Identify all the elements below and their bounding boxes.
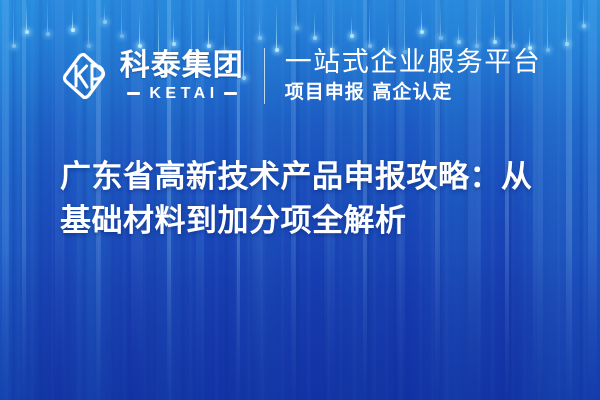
brand-rule-left (127, 92, 140, 95)
brand-lockup[interactable]: 科泰集团 KETAI (59, 51, 244, 102)
meteor-particle (566, 10, 567, 44)
meteor-particle (121, 0, 122, 36)
meteor-particle (259, 14, 260, 38)
meteor-head (25, 30, 29, 34)
brand-text: 科泰集团 KETAI (120, 51, 244, 102)
meteor-head (350, 34, 354, 38)
meteor-head (582, 24, 586, 28)
meteor-head (46, 32, 50, 36)
tagline-main: 一站式企业服务平台 (285, 49, 542, 77)
brand-name-en-row: KETAI (127, 86, 237, 102)
meteor-particle (440, 0, 441, 38)
meteor-head (71, 28, 75, 32)
brand-name-en: KETAI (145, 86, 219, 102)
ketai-diamond-monogram-logo-icon (59, 51, 109, 101)
headline-line-1: 广东省高新技术产品申报攻略：从 (60, 155, 550, 199)
meteor-particle (47, 0, 48, 34)
promo-banner: 科泰集团 KETAI 一站式企业服务平台 项目申报 高企认定 广东省高新技术产品… (0, 0, 600, 400)
meteor-particle (494, 12, 495, 42)
brand-rule-right (224, 92, 237, 95)
meteor-particle (421, 8, 422, 32)
meteor-particle (296, 0, 297, 28)
meteor-head (295, 26, 299, 30)
header-divider (264, 48, 265, 104)
brand-name-cn: 科泰集团 (120, 51, 244, 81)
meteor-head (420, 30, 424, 34)
meteor-head (120, 34, 124, 38)
headline-block: 广东省高新技术产品申报攻略：从 基础材料到加分项全解析 (60, 155, 550, 243)
meteor-head (103, 20, 107, 24)
headline-line-2: 基础材料到加分项全解析 (60, 199, 550, 243)
meteor-particle (72, 8, 73, 30)
meteor-particle (104, 4, 105, 22)
meteor-particle (314, 10, 315, 38)
meteor-particle (351, 16, 352, 36)
banner-header: 科泰集团 KETAI 一站式企业服务平台 项目申报 高企认定 (0, 40, 600, 112)
tagline-sub: 项目申报 高企认定 (285, 83, 542, 103)
meteor-particle (583, 0, 584, 26)
meteor-particle (26, 2, 27, 32)
tagline-block: 一站式企业服务平台 项目申报 高企认定 (285, 49, 542, 103)
bottom-vignette (0, 250, 600, 400)
